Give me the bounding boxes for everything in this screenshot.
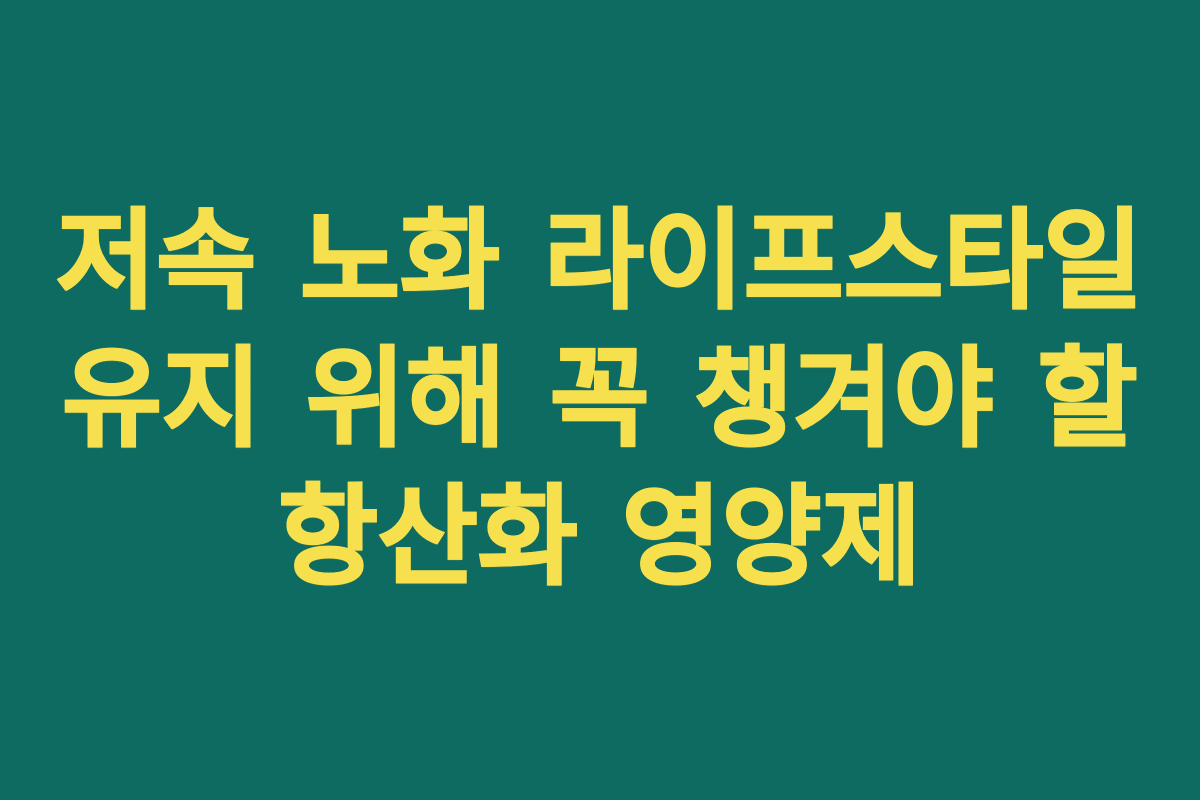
headline-line-2: 유지 위해 꼭 챙겨야 할	[40, 331, 1160, 469]
banner-canvas: 저속 노화 라이프스타일 유지 위해 꼭 챙겨야 할 항산화 영양제	[0, 0, 1200, 800]
headline-line-3: 항산화 영양제	[40, 469, 1160, 607]
headline-text-block: 저속 노화 라이프스타일 유지 위해 꼭 챙겨야 할 항산화 영양제	[40, 193, 1160, 607]
headline-line-1: 저속 노화 라이프스타일	[40, 193, 1160, 331]
